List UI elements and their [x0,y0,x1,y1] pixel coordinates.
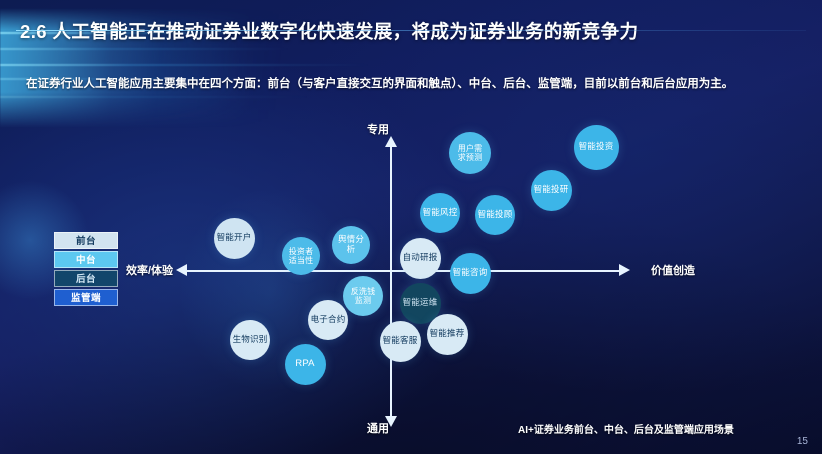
bubble-label: 舆情分析 [332,235,370,254]
bubble-node[interactable]: 反洗钱监测 [343,276,383,316]
bubble-node[interactable]: 智能开户 [214,218,255,259]
bubble-node[interactable]: 投资者适当性 [282,237,320,275]
legend-item-3[interactable]: 监管端 [54,289,118,306]
bubble-label: 智能咨询 [451,268,490,278]
bubble-label: 智能推荐 [428,329,467,339]
bubble-node[interactable]: 电子合约 [308,300,348,340]
bubble-label: 电子合约 [309,315,348,325]
page-number: 15 [797,436,808,447]
bubble-node[interactable]: 智能投资 [574,125,619,170]
axis-label-left: 效率/体验 [126,262,173,278]
axis-arrow-up-icon [385,136,397,147]
bubble-node[interactable]: 智能风控 [420,193,460,233]
bubble-node[interactable]: 智能客服 [380,321,421,362]
legend-item-label: 中台 [76,255,96,266]
bubble-label: 生物识别 [231,335,270,345]
slide-canvas: 2.6 人工智能正在推动证券业数字化快速发展，将成为证券业务的新竞争力 在证券行… [0,0,822,454]
bubble-node[interactable]: 智能投顾 [475,195,515,235]
bubble-node[interactable]: 自动研报 [400,238,441,279]
bubble-label: RPA [293,359,316,370]
bubble-label: 智能风控 [421,208,460,218]
bubble-label: 智能客服 [381,336,420,346]
axis-arrow-right-icon [619,264,630,276]
bubble-label: 智能投顾 [476,210,515,220]
bubble-node[interactable]: 舆情分析 [332,226,370,264]
header: 2.6 人工智能正在推动证券业数字化快速发展，将成为证券业务的新竞争力 [0,18,822,52]
bubble-label: 投资者适当性 [287,247,316,265]
legend-item-label: 后台 [76,274,96,285]
chart-caption: AI+证券业务前台、中台、后台及监管端应用场景 [518,421,734,436]
legend-item-label: 监管端 [71,293,101,304]
legend-item-1[interactable]: 中台 [54,251,118,268]
bubble-node[interactable]: 智能投研 [531,170,572,211]
legend-item-2[interactable]: 后台 [54,270,118,287]
glow-accent-center [180,190,360,390]
legend: 前台中台后台监管端 [54,232,118,308]
bubble-label: 反洗钱监测 [349,287,378,305]
axis-label-right: 价值创造 [651,262,695,278]
bubble-node[interactable]: 智能咨询 [450,253,491,294]
title-divider [16,30,806,31]
bubble-node[interactable]: 智能推荐 [427,314,468,355]
page-title: 2.6 人工智能正在推动证券业数字化快速发展，将成为证券业务的新竞争力 [20,18,638,44]
bubble-label: 自动研报 [401,253,440,263]
vertical-axis [390,142,392,420]
bubble-label: 智能投研 [532,185,571,195]
legend-item-label: 前台 [76,236,96,247]
bubble-label: 智能运维 [401,298,440,308]
axis-label-bottom: 通用 [367,420,389,436]
subtitle-text: 在证券行业人工智能应用主要集中在四个方面：前台（与客户直接交互的界面和触点）、中… [26,74,782,95]
axis-arrow-left-icon [176,264,187,276]
bubble-node[interactable]: 生物识别 [230,320,270,360]
bubble-label: 智能开户 [215,233,254,243]
axis-label-top: 专用 [367,121,389,137]
bubble-label: 用户需求预测 [456,144,485,162]
bubble-node[interactable]: 用户需求预测 [449,132,491,174]
bubble-node[interactable]: RPA [285,344,326,385]
legend-item-0[interactable]: 前台 [54,232,118,249]
bubble-label: 智能投资 [577,142,616,152]
